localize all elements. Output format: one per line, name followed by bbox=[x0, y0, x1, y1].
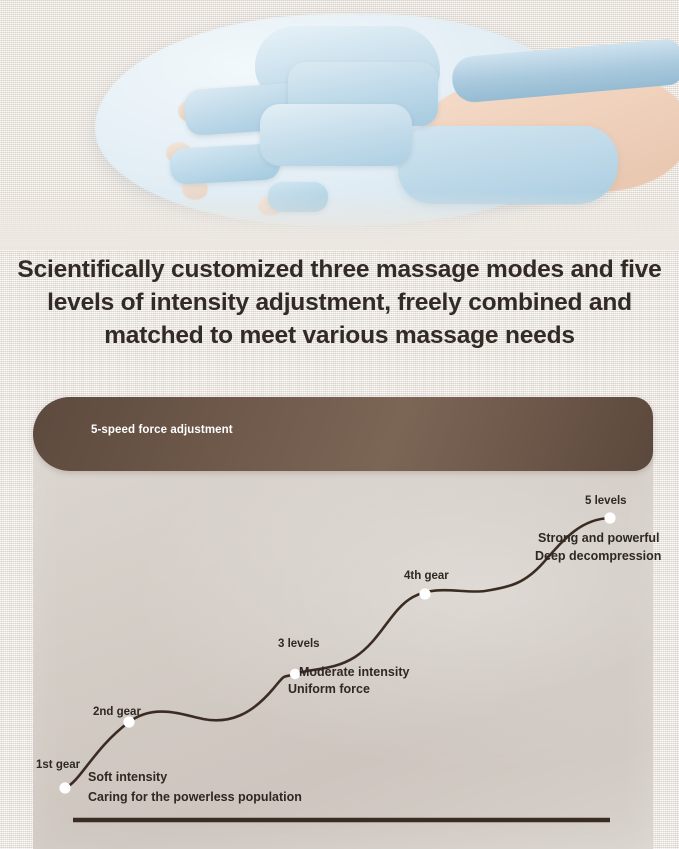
headline-line-2: levels of intensity adjustment, freely c… bbox=[16, 286, 663, 319]
product-detail-page: Scientifically customized three massage … bbox=[0, 0, 679, 849]
chart-label-2nd-gear: 2nd gear bbox=[93, 706, 141, 718]
chart-marker-2nd-gear[interactable] bbox=[123, 716, 134, 727]
page-title: Scientifically customized three massage … bbox=[0, 253, 679, 352]
chart-marker-5-levels[interactable] bbox=[604, 512, 615, 523]
chart-desc-1st-gear-line-1: Soft intensity bbox=[88, 770, 167, 784]
chart-desc-1st-gear-line-2: Caring for the powerless population bbox=[88, 790, 302, 804]
glove-finger-segment-2 bbox=[260, 104, 412, 166]
chart-desc-5-levels-line-2: Deep decompression bbox=[535, 549, 661, 563]
intensity-curve-line bbox=[65, 518, 610, 788]
headline-line-1: Scientifically customized three massage … bbox=[16, 253, 663, 286]
headline-line-3: matched to meet various massage needs bbox=[16, 319, 663, 352]
chart-label-1st-gear: 1st gear bbox=[36, 759, 80, 771]
chart-desc-3-levels-line-2: Uniform force bbox=[288, 682, 370, 696]
hero-product-photo bbox=[0, 0, 679, 250]
chart-marker-4th-gear[interactable] bbox=[419, 588, 430, 599]
chart-label-3-levels: 3 levels bbox=[278, 638, 320, 650]
chart-desc-5-levels-line-1: Strong and powerful bbox=[538, 531, 660, 545]
chart-marker-1st-gear[interactable] bbox=[59, 782, 70, 793]
chart-label-5-levels: 5 levels bbox=[585, 495, 627, 507]
hero-bottom-fade bbox=[0, 192, 679, 250]
chart-label-4th-gear: 4th gear bbox=[404, 570, 449, 582]
chart-desc-3-levels-line-1: Moderate intensity bbox=[299, 665, 409, 679]
